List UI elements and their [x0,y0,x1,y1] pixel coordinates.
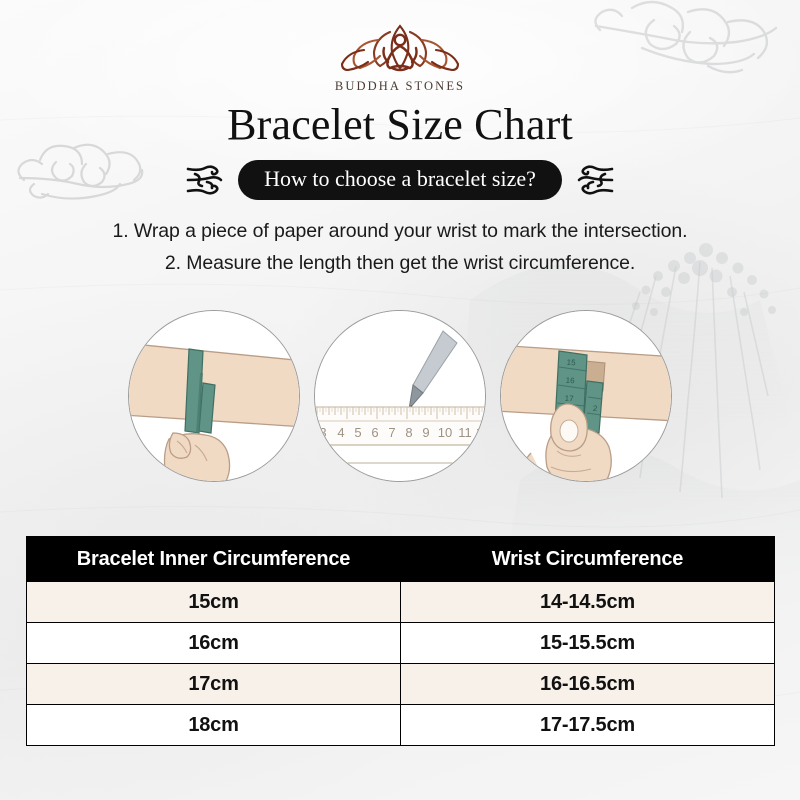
instruction-step-1: 1. Wrap a piece of paper around your wri… [0,215,800,247]
svg-text:4: 4 [337,425,344,440]
svg-text:17: 17 [564,394,574,404]
table-row: 15cm 14-14.5cm [27,582,775,623]
svg-text:10: 10 [438,425,452,440]
bracelet-size-table: Bracelet Inner Circumference Wrist Circu… [26,536,775,746]
svg-text:16: 16 [565,376,575,386]
size-chart-page: BUDDHA STONES Bracelet Size Chart How to… [0,0,800,800]
table-body: 15cm 14-14.5cm 16cm 15-15.5cm 17cm 16-16… [27,582,775,746]
table-header-row: Bracelet Inner Circumference Wrist Circu… [27,537,775,582]
subtitle-pill: How to choose a bracelet size? [238,160,562,200]
svg-text:12: 12 [476,425,485,440]
wrist-with-paper-strip-icon [129,311,299,481]
instruction-step-2: 2. Measure the length then get the wrist… [0,247,800,279]
page-title: Bracelet Size Chart [0,99,800,151]
table-row: 18cm 17-17.5cm [27,705,775,746]
cell-bracelet-circumference: 15cm [27,582,401,623]
flourish-ornament-left-icon [185,163,229,197]
cell-bracelet-circumference: 18cm [27,705,401,746]
cell-wrist-circumference: 15-15.5cm [401,623,775,664]
svg-text:5: 5 [354,425,361,440]
cell-bracelet-circumference: 16cm [27,623,401,664]
subtitle-band: How to choose a bracelet size? [0,160,800,200]
illustration-wrap-paper-around-wrist [128,310,300,482]
column-header-bracelet-inner-circumference: Bracelet Inner Circumference [27,537,401,582]
table-row: 16cm 15-15.5cm [27,623,775,664]
cell-wrist-circumference: 17-17.5cm [401,705,775,746]
brand-logo: BUDDHA STONES [0,16,800,94]
svg-text:15: 15 [566,358,576,368]
illustration-read-wrist-circumference: 15 16 17 2 [500,310,672,482]
cell-bracelet-circumference: 17cm [27,664,401,705]
svg-text:3: 3 [319,425,326,440]
illustration-measure-with-ruler: 3 4 5 6 7 8 9 10 11 12 [314,310,486,482]
illustration-row: 3 4 5 6 7 8 9 10 11 12 [0,310,800,482]
column-header-wrist-circumference: Wrist Circumference [401,537,775,582]
ruler-and-pencil-icon: 3 4 5 6 7 8 9 10 11 12 [315,311,485,481]
table-header: Bracelet Inner Circumference Wrist Circu… [27,537,775,582]
svg-text:8: 8 [405,425,412,440]
instructions-list: 1. Wrap a piece of paper around your wri… [0,215,800,279]
svg-text:7: 7 [388,425,395,440]
cell-wrist-circumference: 14-14.5cm [401,582,775,623]
lotus-meditation-icon [330,16,470,78]
svg-text:11: 11 [458,425,472,440]
flourish-ornament-right-icon [571,163,615,197]
svg-text:9: 9 [422,425,429,440]
table-row: 17cm 16-16.5cm [27,664,775,705]
svg-text:6: 6 [371,425,378,440]
measuring-tape-on-wrist-icon: 15 16 17 2 [501,311,671,481]
cell-wrist-circumference: 16-16.5cm [401,664,775,705]
brand-wordmark: BUDDHA STONES [0,79,800,94]
